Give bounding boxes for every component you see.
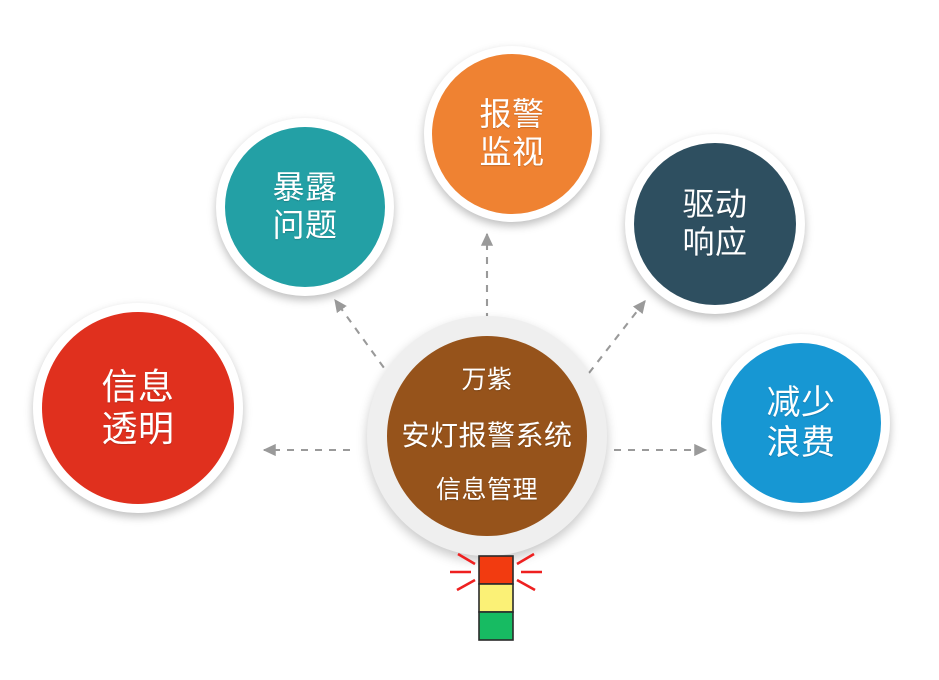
- center-line-1: 万紫: [461, 366, 512, 396]
- arrow-to-drive: [589, 301, 645, 373]
- node-drive-response-line1: 驱动: [682, 186, 747, 224]
- node-expose-problems-line1: 暴露: [272, 169, 337, 207]
- andon-light-tower: [446, 548, 546, 648]
- node-drive-response[interactable]: 驱动 响应: [625, 134, 805, 314]
- node-expose-problems[interactable]: 暴露 问题: [216, 118, 394, 296]
- node-reduce-waste-line1: 减少: [767, 383, 836, 423]
- node-center-hub[interactable]: 万紫 安灯报警系统 信息管理: [367, 316, 607, 556]
- arrow-to-expose: [335, 300, 392, 379]
- diagram-canvas: 报警 监视 暴露 问题 驱动 响应 信息 透明 减少 浪费 万紫 安: [0, 0, 939, 680]
- green-lamp: [479, 612, 513, 640]
- node-information-transparency-line1: 信息: [101, 366, 174, 408]
- node-alarm-monitor-disc: 报警 监视: [432, 54, 592, 214]
- node-reduce-waste-line2: 浪费: [767, 423, 836, 463]
- node-alarm-monitor-line2: 监视: [479, 134, 544, 172]
- node-information-transparency[interactable]: 信息 透明: [33, 303, 243, 513]
- node-expose-problems-line2: 问题: [272, 207, 337, 245]
- node-center-hub-disc: 万紫 安灯报警系统 信息管理: [387, 336, 587, 536]
- center-line-3: 信息管理: [436, 476, 538, 506]
- node-expose-problems-disc: 暴露 问题: [225, 127, 385, 287]
- node-drive-response-line2: 响应: [682, 224, 747, 262]
- node-alarm-monitor-line1: 报警: [479, 96, 544, 134]
- center-line-2: 安灯报警系统: [401, 419, 572, 452]
- node-alarm-monitor[interactable]: 报警 监视: [424, 46, 600, 222]
- node-drive-response-disc: 驱动 响应: [634, 143, 796, 305]
- red-lamp: [479, 556, 513, 584]
- node-information-transparency-line2: 透明: [101, 408, 174, 450]
- yellow-lamp: [479, 584, 513, 612]
- node-information-transparency-disc: 信息 透明: [42, 312, 234, 504]
- node-reduce-waste-disc: 减少 浪费: [721, 343, 881, 503]
- node-reduce-waste[interactable]: 减少 浪费: [712, 334, 890, 512]
